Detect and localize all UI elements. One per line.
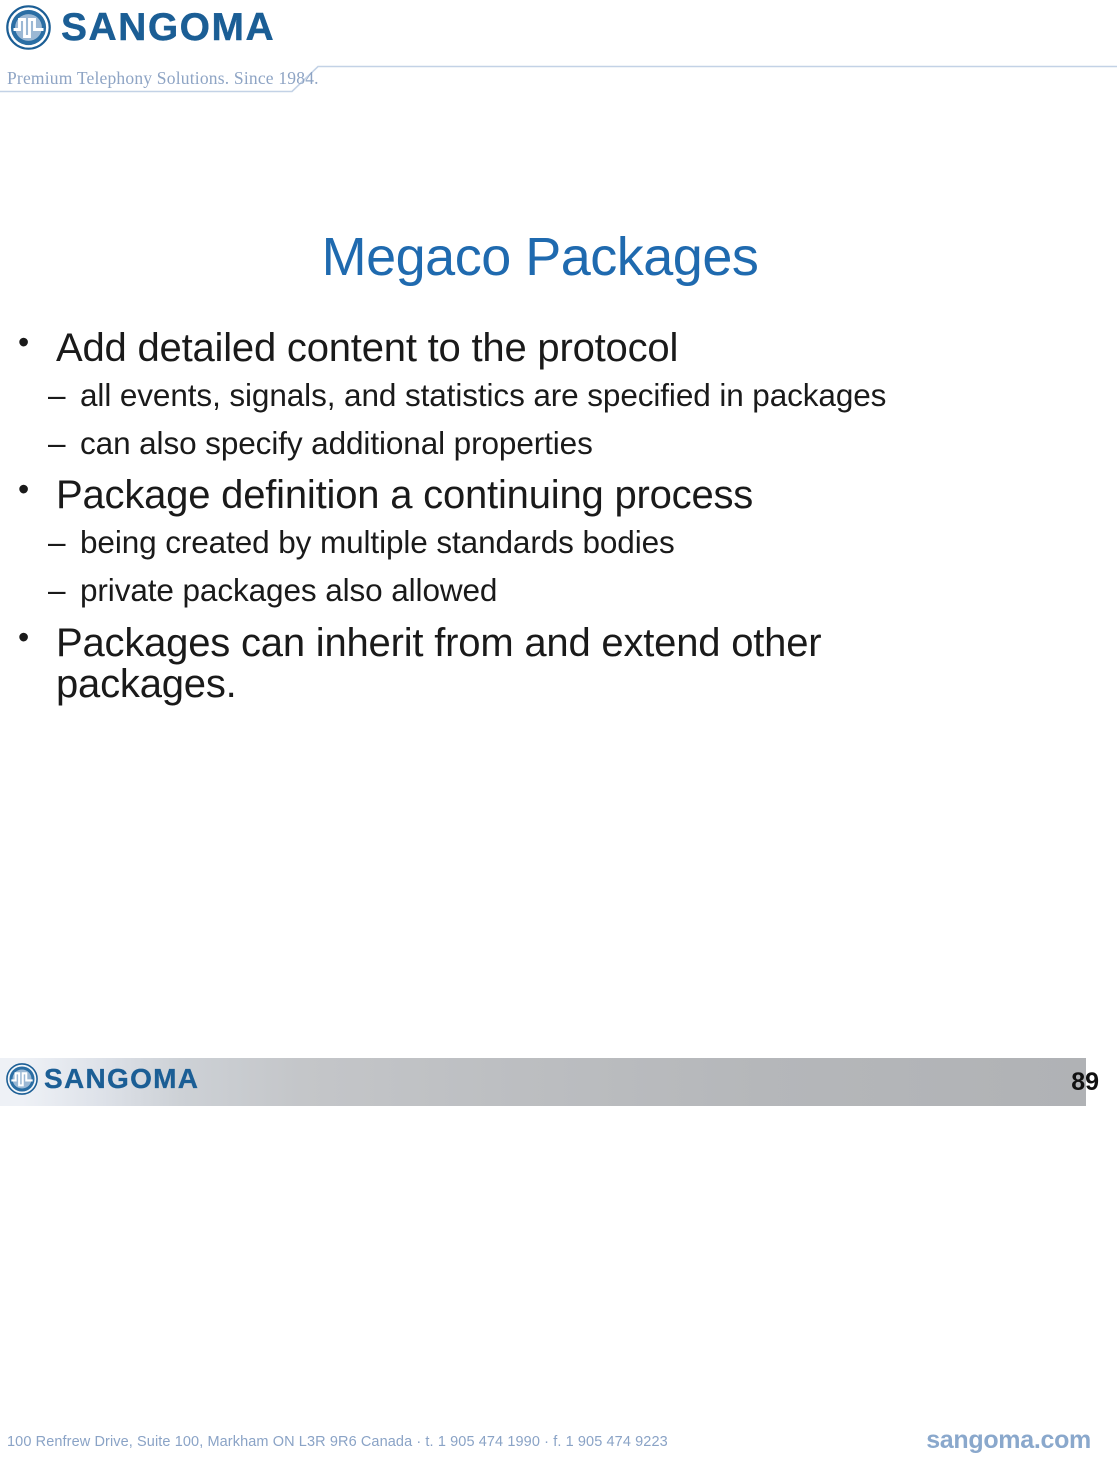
sub-bullet-item: can also specify additional properties bbox=[56, 427, 976, 460]
sub-bullet-text: being created by multiple standards bodi… bbox=[80, 524, 675, 560]
brand-lockup: SANGOMA bbox=[6, 5, 275, 50]
bullet-list-level1: Add detailed content to the protocol all… bbox=[8, 328, 1108, 706]
sub-bullet-item: all events, signals, and statistics are … bbox=[56, 379, 976, 412]
slide-title: Megaco Packages bbox=[0, 230, 1080, 284]
sub-bullet-item: being created by multiple standards bodi… bbox=[56, 526, 976, 559]
sub-bullet-text: can also specify additional properties bbox=[80, 425, 593, 461]
bullet-list-level2: all events, signals, and statistics are … bbox=[56, 379, 976, 461]
page-header: SANGOMA Premium Telephony Solutions. Sin… bbox=[0, 0, 1117, 100]
footer-brand-lockup: SANGOMA bbox=[6, 1063, 199, 1095]
bullet-item: Add detailed content to the protocol all… bbox=[8, 328, 976, 460]
page-number: 89 bbox=[1071, 1068, 1099, 1097]
sangoma-waveform-circle-icon bbox=[6, 1063, 38, 1095]
company-address: 100 Renfrew Drive, Suite 100, Markham ON… bbox=[7, 1434, 668, 1450]
slide-canvas: Megaco Packages Add detailed content to … bbox=[0, 100, 1117, 1020]
company-website-url[interactable]: sangoma.com bbox=[926, 1426, 1091, 1455]
bullet-list-level2: being created by multiple standards bodi… bbox=[56, 526, 976, 608]
brand-tagline: Premium Telephony Solutions. Since 1984. bbox=[7, 68, 319, 89]
bullet-item: Packages can inherit from and extend oth… bbox=[8, 623, 936, 706]
sangoma-waveform-circle-icon bbox=[6, 5, 51, 50]
page-footer: 100 Renfrew Drive, Suite 100, Markham ON… bbox=[0, 1414, 1117, 1474]
slide-content: Add detailed content to the protocol all… bbox=[8, 328, 1108, 708]
bullet-text: Packages can inherit from and extend oth… bbox=[56, 621, 821, 707]
footer-brand-wordmark: SANGOMA bbox=[44, 1065, 199, 1093]
bullet-text: Package definition a continuing process bbox=[56, 473, 753, 517]
sub-bullet-item: private packages also allowed bbox=[56, 574, 976, 607]
sub-bullet-text: all events, signals, and statistics are … bbox=[80, 377, 886, 413]
bullet-item: Package definition a continuing process … bbox=[8, 475, 976, 607]
bullet-text: Add detailed content to the protocol bbox=[56, 326, 678, 370]
brand-wordmark: SANGOMA bbox=[61, 8, 275, 47]
sub-bullet-text: private packages also allowed bbox=[80, 572, 497, 608]
